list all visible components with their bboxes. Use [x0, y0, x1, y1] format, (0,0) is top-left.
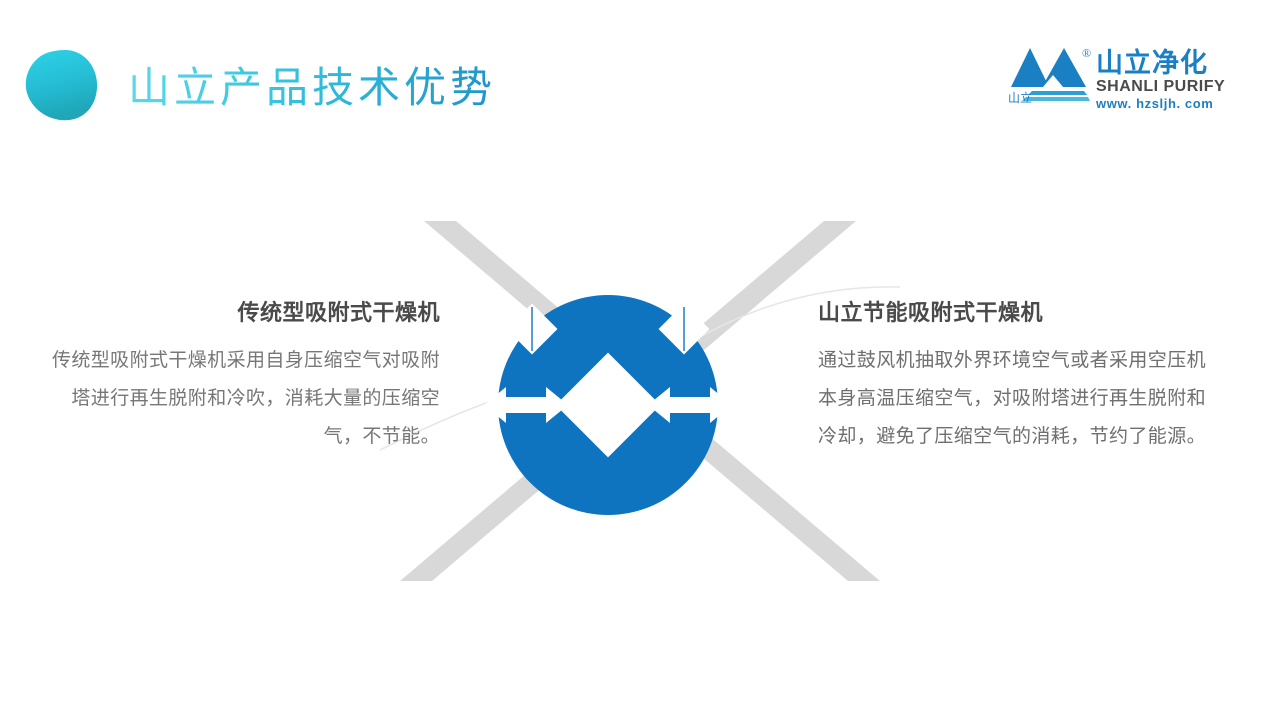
- column-right-body: 通过鼓风机抽取外界环境空气或者采用空压机本身高温压缩空气，对吸附塔进行再生脱附和…: [818, 342, 1218, 456]
- column-left-body: 传统型吸附式干燥机采用自身压缩空气对吸附塔进行再生脱附和冷吹，消耗大量的压缩空气…: [40, 342, 440, 456]
- logo-mark-label: 山立: [1008, 92, 1032, 105]
- logo-website-url: www. hzsljh. com: [1096, 96, 1226, 112]
- company-logo: ® 山立 山立净化 SHANLI PURIFY www. hzsljh. com: [1008, 40, 1226, 118]
- column-traditional: 传统型吸附式干燥机 传统型吸附式干燥机采用自身压缩空气对吸附塔进行再生脱附和冷吹…: [40, 298, 440, 456]
- logo-company-name-cn: 山立净化: [1096, 48, 1226, 78]
- registered-trademark-icon: ®: [1082, 46, 1091, 61]
- column-left-heading: 传统型吸附式干燥机: [40, 298, 440, 328]
- page-title: 山立产品技术优势: [128, 63, 496, 115]
- column-shanli: 山立节能吸附式干燥机 通过鼓风机抽取外界环境空气或者采用空压机本身高温压缩空气，…: [818, 298, 1218, 456]
- header-blob-decoration: [24, 48, 102, 122]
- column-right-heading: 山立节能吸附式干燥机: [818, 298, 1218, 328]
- slide-canvas: 山立产品技术优势 ® 山立 山立净化 SHANLI PURIFY www. hz…: [0, 0, 1280, 720]
- logo-text-group: 山立净化 SHANLI PURIFY www. hzsljh. com: [1096, 48, 1226, 112]
- logo-company-name-en: SHANLI PURIFY: [1096, 78, 1226, 96]
